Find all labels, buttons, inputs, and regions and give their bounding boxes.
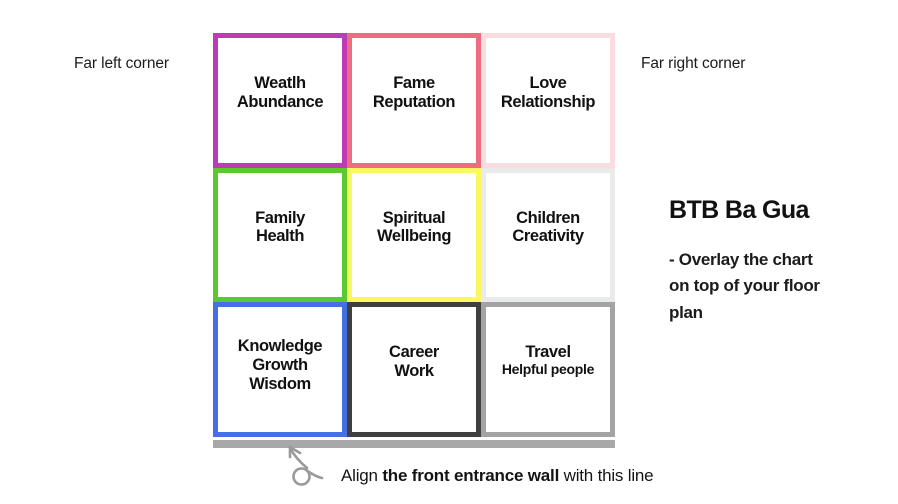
bagua-cell-label: KnowledgeGrowthWisdom <box>238 337 322 393</box>
bagua-cell-fame[interactable]: FameReputation <box>347 33 481 168</box>
bagua-cell-family[interactable]: FamilyHealth <box>213 168 347 303</box>
bagua-cell-line: Weatlh <box>237 74 323 93</box>
caption-strong: the front entrance wall <box>382 466 559 485</box>
bagua-cell-line: Career <box>389 343 439 362</box>
bagua-cell-line: Reputation <box>373 93 455 112</box>
bagua-cell-line: Spiritual <box>377 209 451 228</box>
bagua-cell-subline: Helpful people <box>502 362 594 378</box>
bagua-cell-label: WeatlhAbundance <box>237 74 323 112</box>
bagua-cell-career[interactable]: CareerWork <box>347 302 481 437</box>
hand-drawn-arrow-icon <box>281 444 341 496</box>
bagua-cell-line: Children <box>512 209 583 228</box>
bagua-cell-line: Wisdom <box>238 375 322 394</box>
front-entrance-alignment-line <box>213 440 615 448</box>
bagua-cell-spiritual[interactable]: SpiritualWellbeing <box>347 168 481 303</box>
bagua-cell-line: Abundance <box>237 93 323 112</box>
bagua-cell-label: LoveRelationship <box>501 74 595 112</box>
bagua-cell-travel[interactable]: TravelHelpful people <box>481 302 615 437</box>
bagua-cell-line: Work <box>389 362 439 381</box>
caption-suffix: with this line <box>559 466 653 485</box>
bagua-cell-line: Relationship <box>501 93 595 112</box>
bagua-cell-line: Health <box>255 227 305 246</box>
side-panel: BTB Ba Gua - Overlay the chart on top of… <box>669 196 884 326</box>
side-panel-title: BTB Ba Gua <box>669 196 884 225</box>
bagua-diagram-canvas: Far left corner Far right corner WeatlhA… <box>0 0 898 504</box>
bagua-grid: WeatlhAbundanceFameReputationLoveRelatio… <box>213 33 615 437</box>
bagua-cell-line: Creativity <box>512 227 583 246</box>
bagua-cell-line: Knowledge <box>238 337 322 356</box>
bagua-cell-love[interactable]: LoveRelationship <box>481 33 615 168</box>
bagua-cell-label: ChildrenCreativity <box>512 209 583 247</box>
bagua-cell-wealth[interactable]: WeatlhAbundance <box>213 33 347 168</box>
bagua-cell-line: Travel <box>502 343 594 362</box>
bagua-cell-label: TravelHelpful people <box>502 343 594 378</box>
bagua-cell-label: SpiritualWellbeing <box>377 209 451 247</box>
far-right-corner-label: Far right corner <box>641 55 745 73</box>
caption-prefix: Align <box>341 466 382 485</box>
bagua-cell-line: Fame <box>373 74 455 93</box>
entrance-caption: Align the front entrance wall with this … <box>341 466 653 486</box>
bagua-cell-label: FameReputation <box>373 74 455 112</box>
bagua-cell-label: CareerWork <box>389 343 439 381</box>
side-panel-note: - Overlay the chart on top of your floor… <box>669 247 829 326</box>
bagua-cell-line: Growth <box>238 356 322 375</box>
bagua-cell-line: Family <box>255 209 305 228</box>
bagua-cell-knowledge[interactable]: KnowledgeGrowthWisdom <box>213 302 347 437</box>
bagua-cell-children[interactable]: ChildrenCreativity <box>481 168 615 303</box>
bagua-cell-label: FamilyHealth <box>255 209 305 247</box>
far-left-corner-label: Far left corner <box>74 55 169 73</box>
bagua-cell-line: Love <box>501 74 595 93</box>
bagua-cell-line: Wellbeing <box>377 227 451 246</box>
